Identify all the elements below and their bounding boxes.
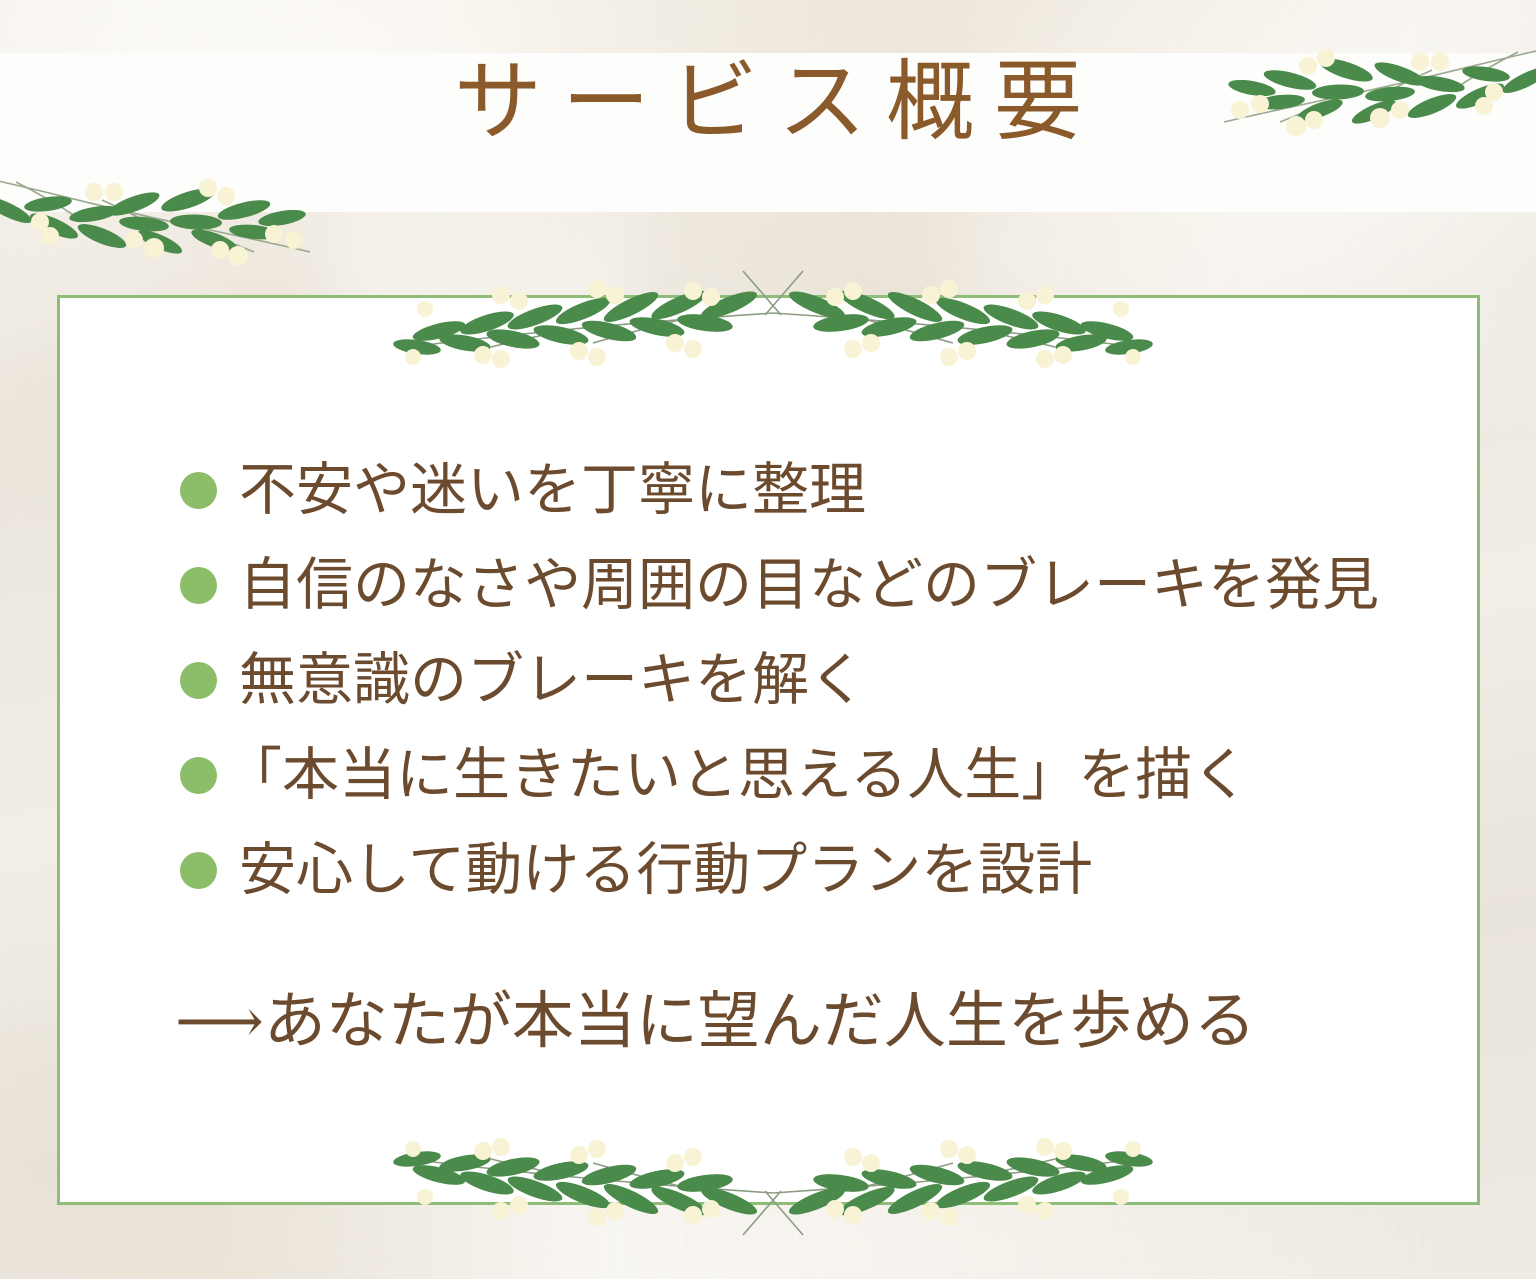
list-item: 「本当に生きたいと思える人生」を描く	[180, 728, 1480, 823]
list-item-label: 安心して動ける行動プランを設計	[239, 839, 1092, 903]
bullet-dot-icon	[180, 472, 217, 509]
conclusion-line: ⟶あなたが本当に望んだ人生を歩める	[175, 988, 1256, 1056]
bullet-dot-icon	[180, 757, 217, 794]
conclusion-label: あなたが本当に望んだ人生を歩める	[264, 988, 1256, 1056]
content-card: 不安や迷いを丁寧に整理 自信のなさや周囲の目などのブレーキを発見 無意識のブレー…	[57, 295, 1480, 1205]
arrow-right-icon: ⟶	[175, 988, 260, 1056]
list-item-label: 無意識のブレーキを解く	[239, 649, 866, 713]
bullet-dot-icon	[180, 662, 217, 699]
slide-canvas: サービス概要	[0, 0, 1536, 1279]
list-item: 無意識のブレーキを解く	[180, 633, 1480, 728]
list-item-label: 自信のなさや周囲の目などのブレーキを発見	[239, 554, 1379, 618]
list-item: 安心して動ける行動プランを設計	[180, 823, 1480, 918]
list-item: 不安や迷いを丁寧に整理	[180, 443, 1480, 538]
list-item-label: 不安や迷いを丁寧に整理	[239, 459, 866, 523]
bullet-dot-icon	[180, 567, 217, 604]
bullet-list: 不安や迷いを丁寧に整理 自信のなさや周囲の目などのブレーキを発見 無意識のブレー…	[180, 443, 1480, 918]
page-title: サービス概要	[0, 60, 1536, 148]
bullet-dot-icon	[180, 852, 217, 889]
list-item-label: 「本当に生きたいと思える人生」を描く	[225, 744, 1249, 808]
list-item: 自信のなさや周囲の目などのブレーキを発見	[180, 538, 1480, 633]
